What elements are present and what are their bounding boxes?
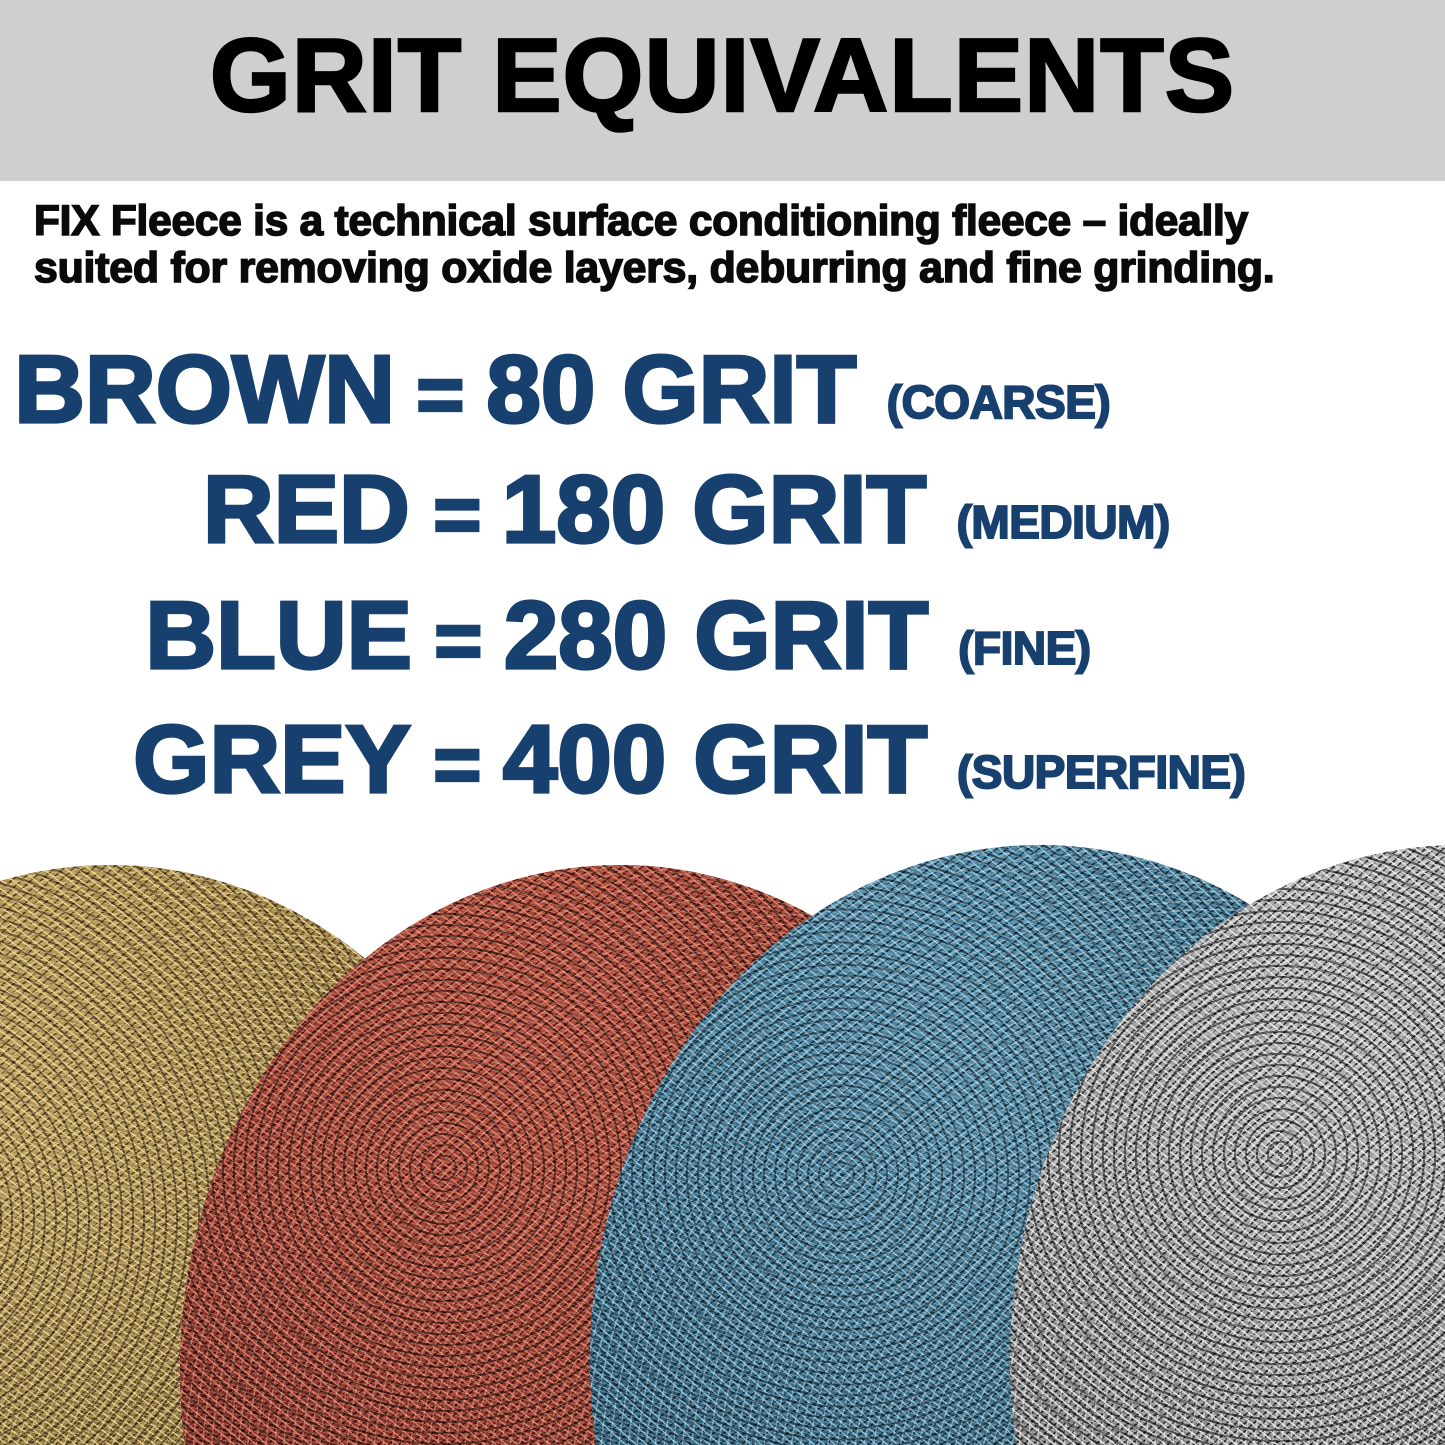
grit-row-grade-label: (SUPERFINE) [957,749,1245,795]
grit-equivalents-infographic: GRIT EQUIVALENTS FIX Fleece is a technic… [0,0,1445,1445]
grit-equivalents-list: BROWN = 80 GRIT (COARSE) RED = 180 GRIT … [0,340,1445,830]
description-line-2: suited for removing oxide layers, deburr… [34,245,1412,292]
grit-row-color-name: BLUE [145,586,412,686]
grit-row-color-name: BROWN [14,340,395,440]
grey-pad-fiber-texture-3 [1010,845,1445,1445]
grit-row-grade-label: (MEDIUM) [957,499,1170,545]
header-band: GRIT EQUIVALENTS [0,0,1445,181]
grit-row-grey: GREY = 400 GRIT (SUPERFINE) [0,710,1445,830]
product-photo [0,838,1445,1445]
grit-row-color-name: RED [203,460,410,560]
page-title: GRIT EQUIVALENTS [0,24,1445,128]
grit-row-grit-value: 280 GRIT [504,586,928,686]
grit-row-grade-label: (FINE) [958,625,1090,671]
grit-row-grit-value: 80 GRIT [486,340,856,440]
grit-row-equals-sign: = [417,345,465,445]
grit-row-blue: BLUE = 280 GRIT (FINE) [0,586,1445,710]
grit-row-brown: BROWN = 80 GRIT (COARSE) [0,340,1445,460]
grit-row-equals-sign: = [435,591,483,691]
grit-row-grade-label: (COARSE) [887,379,1110,425]
grit-row-red: RED = 180 GRIT (MEDIUM) [0,460,1445,586]
product-description: FIX Fleece is a technical surface condit… [34,198,1419,292]
grit-row-equals-sign: = [433,465,481,565]
grit-row-grit-value: 180 GRIT [502,460,926,560]
grit-row-color-name: GREY [133,710,411,810]
grit-row-equals-sign: = [434,715,482,815]
grit-row-grit-value: 400 GRIT [503,710,927,810]
description-line-1: FIX Fleece is a technical surface condit… [34,198,1398,245]
grey-abrasive-pad [1010,845,1445,1445]
